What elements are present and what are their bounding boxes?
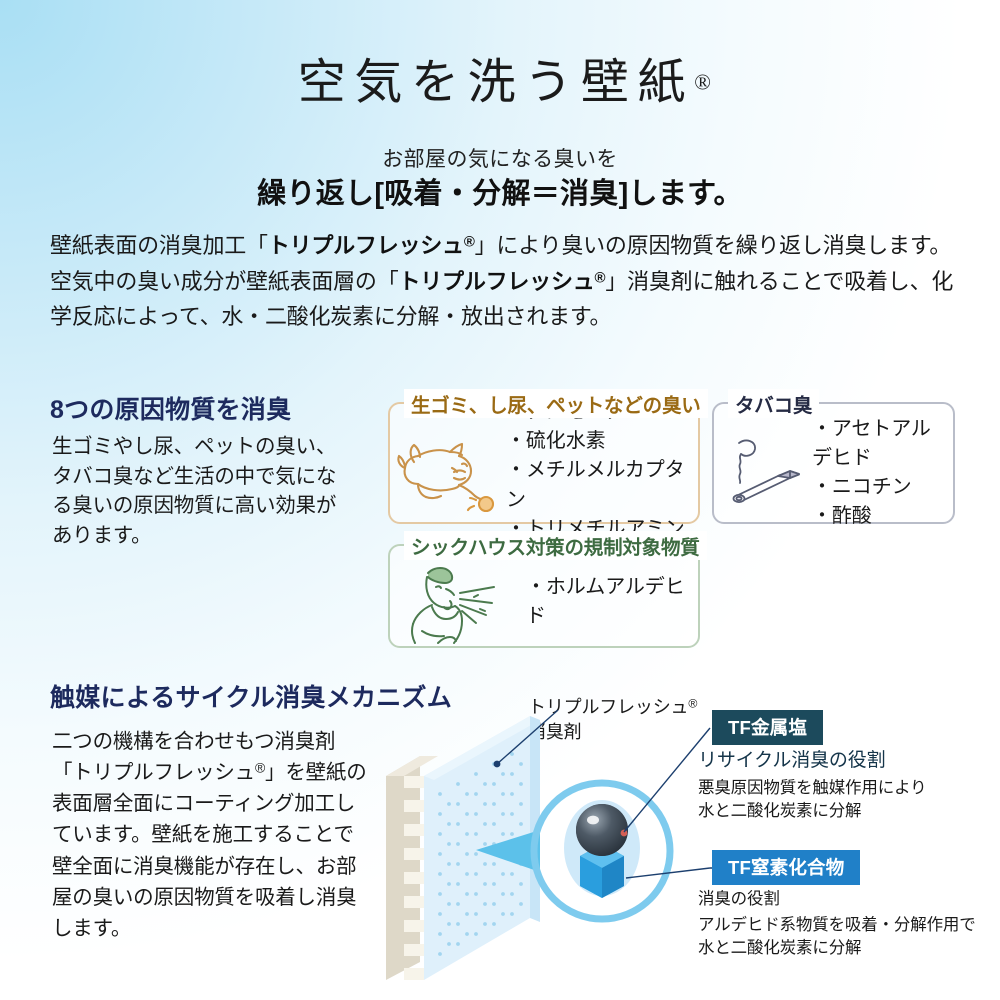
odor-card-item-list: アンモニア 硫化水素 メチルメルカプタン トリメチルアミン (506, 398, 692, 544)
page-title: 空気を洗う壁紙® (0, 42, 1000, 112)
brand-name-1: トリプルフレッシュ (268, 233, 464, 258)
callout-line: 水と二酸化炭素に分解 (698, 800, 998, 823)
odor-card-body: シックハウス対策の規制対象物質 (388, 544, 700, 648)
registered-trademark-icon: ® (595, 269, 606, 286)
registered-trademark-icon: ® (694, 70, 711, 95)
sneezing-person-icon (400, 559, 508, 645)
section-1-body-text: 生ゴミやし尿、ペットの臭い、タバコ臭など生活の中で気になる臭いの原因物質に高い効… (52, 432, 352, 551)
page-title-text: 空気を洗う壁紙 (298, 56, 694, 109)
callout-tf-nitrogen-compound: 消臭の役割 アルデヒド系物質を吸着・分解作用で 水と二酸化炭素に分解 (698, 888, 1000, 959)
odor-card-sickhouse: シックハウス対策の規制対象物質 (388, 544, 700, 648)
brand-name-3: トリプルフレッシュ (72, 761, 255, 784)
list-item: メチルメルカプタン (506, 456, 692, 514)
odor-card-item-list: ホルムアルデヒド (526, 573, 694, 631)
callout-line: 悪臭原因物質を触媒作用により (698, 777, 998, 800)
cigarette-icon (718, 433, 812, 513)
odor-card-item-list: アセトアルデヒド ニコチン 酢酸 (812, 415, 949, 532)
odor-card-household: 生ゴミ、し尿、ペットなどの臭い (388, 402, 700, 524)
list-item: アセトアルデヒド (812, 415, 949, 473)
infographic-page: 空気を洗う壁紙® お部屋の気になる臭いを 繰り返し[吸着・分解＝消臭]します。 … (0, 0, 1000, 1000)
odor-card-body: 生ゴミ、し尿、ペットなどの臭い (388, 402, 700, 524)
cat-icon (394, 428, 506, 514)
list-item: ホルムアルデヒド (526, 573, 694, 631)
brand-name-2: トリプルフレッシュ (398, 269, 594, 294)
list-item: ニコチン (812, 473, 949, 502)
odor-card-legend: シックハウス対策の規制対象物質 (404, 531, 707, 560)
odor-card-body: タバコ臭 (712, 402, 955, 524)
callout-line: アルデヒド系物質を吸着・分解作用で (698, 914, 1000, 937)
callout-title: 消臭の役割 (698, 888, 1000, 911)
section-2-text-part-2: 」を壁紙の表面層全面にコーティング加工しています。壁紙を施工することで壁全面に消… (52, 761, 367, 940)
subtitle-line-1: お部屋の気になる臭いを (0, 143, 1000, 173)
list-item: 酢酸 (812, 502, 949, 531)
odor-card-legend: 生ゴミ、し尿、ペットなどの臭い (404, 389, 708, 418)
callout-tf-metal-salt: リサイクル消臭の役割 悪臭原因物質を触媒作用により 水と二酸化炭素に分解 (698, 748, 998, 823)
badge-tf-nitrogen-compound: TF窒素化合物 (712, 850, 860, 885)
badge-tf-metal-salt: TF金属塩 (712, 710, 823, 745)
callout-line: 水と二酸化炭素に分解 (698, 937, 1000, 960)
section-1-heading: 8つの原因物質を消臭 (50, 390, 291, 426)
mechanism-diagram: トリプルフレッシュ® 消臭剤 (380, 690, 1000, 980)
callout-title: リサイクル消臭の役割 (698, 748, 998, 774)
registered-trademark-icon: ® (255, 760, 265, 776)
registered-trademark-icon: ® (464, 233, 475, 250)
list-item: 硫化水素 (506, 427, 692, 456)
odor-card-legend: タバコ臭 (728, 389, 819, 418)
subtitle-line-2: 繰り返し[吸着・分解＝消臭]します。 (0, 170, 1000, 212)
lead-paragraph: 壁紙表面の消臭加工「トリプルフレッシュ®」により臭いの原因物質を繰り返し消臭しま… (50, 228, 955, 335)
odor-card-tobacco: タバコ臭 (712, 402, 955, 524)
lead-text-part-1: 壁紙表面の消臭加工「 (50, 233, 268, 258)
section-2-body-text: 二つの機構を合わせもつ消臭剤「トリプルフレッシュ®」を壁紙の表面層全面にコーティ… (52, 726, 372, 944)
